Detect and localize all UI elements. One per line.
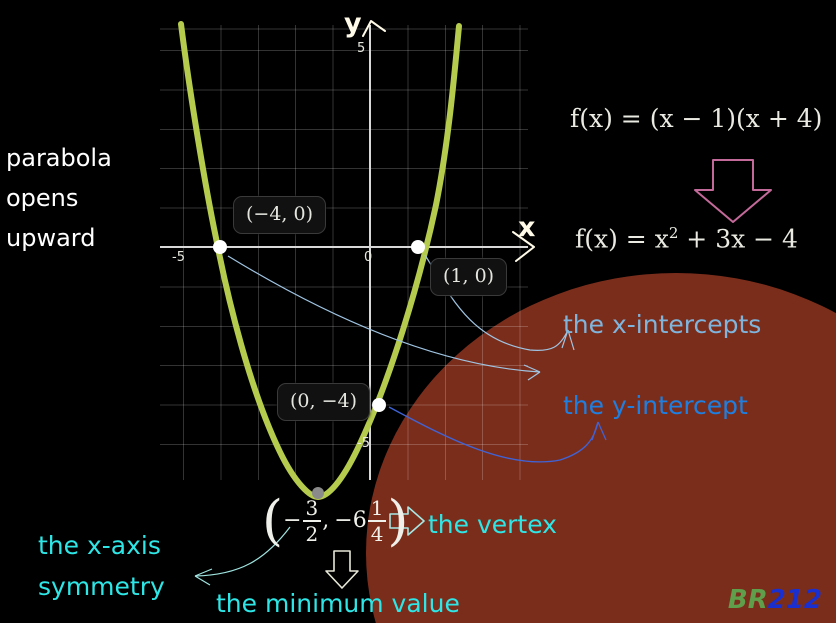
vertex-frac1-denominator: 2 — [303, 524, 322, 544]
vertex-comma: , — [322, 510, 329, 532]
note-parabola-line1: parabola — [6, 138, 112, 178]
note-parabola-line3: upward — [6, 218, 95, 258]
annotation-x-axis-symmetry-line1: the x-axis — [38, 531, 161, 560]
slide-canvas: -5 0 5 -5 y x (−4, 0) (1, 0) (0, −4) par… — [0, 0, 836, 623]
outline-arrow-down-minimum-icon — [326, 551, 358, 588]
annotation-x-axis-symmetry-line2: symmetry — [38, 572, 165, 601]
annotation-x-intercepts: the x-intercepts — [563, 310, 761, 339]
equation-expanded-suffix: + 3x − 4 — [678, 224, 798, 253]
vertex-coordinate-expression: ( − 3 2 , − 6 1 4 ) — [262, 498, 409, 544]
tick-label-x-neg5: -5 — [172, 250, 185, 265]
callout-x-intercept-left[interactable]: (−4, 0) — [233, 196, 326, 234]
y-axis-label: y — [344, 8, 362, 39]
vertex-whole-number: 6 — [353, 510, 367, 532]
vertex-frac2-numerator: 1 — [368, 498, 387, 518]
vertex-neg-sign-2: − — [334, 510, 352, 532]
callout-y-intercept[interactable]: (0, −4) — [277, 383, 370, 421]
equation-expanded: f(x) = x2 + 3x − 4 — [575, 224, 798, 253]
watermark-number: 212 — [768, 585, 822, 615]
outline-arrow-down-equation-icon — [695, 160, 771, 222]
vertex-open-paren: ( — [262, 498, 283, 544]
annotation-y-intercept: the y-intercept — [563, 391, 748, 420]
equation-expanded-prefix: f(x) = x — [575, 224, 669, 253]
watermark-br: BR — [728, 585, 768, 615]
equation-factored: f(x) = (x − 1)(x + 4) — [570, 104, 822, 133]
vertex-close-paren: ) — [387, 498, 408, 544]
watermark: BR212 — [728, 585, 822, 615]
vertex-fraction-one-fourth: 1 4 — [368, 498, 387, 544]
tick-label-x-0: 0 — [364, 250, 372, 265]
callout-x-intercept-right[interactable]: (1, 0) — [430, 258, 507, 296]
note-parabola-line2: opens — [6, 178, 78, 218]
annotation-vertex: the vertex — [428, 510, 557, 539]
arrowhead-x-axis-symmetry-icon — [195, 569, 212, 585]
equation-expanded-exponent: 2 — [669, 224, 679, 242]
annotation-minimum-value: the minimum value — [216, 589, 460, 618]
vertex-neg-sign-1: − — [283, 510, 301, 532]
tick-label-y-neg5: -5 — [357, 436, 370, 451]
x-axis-label: x — [518, 212, 535, 243]
tick-label-y-5: 5 — [357, 41, 365, 56]
vertex-frac1-numerator: 3 — [303, 498, 322, 518]
vertex-fraction-three-halves: 3 2 — [303, 498, 322, 544]
vertex-frac2-denominator: 4 — [368, 524, 387, 544]
